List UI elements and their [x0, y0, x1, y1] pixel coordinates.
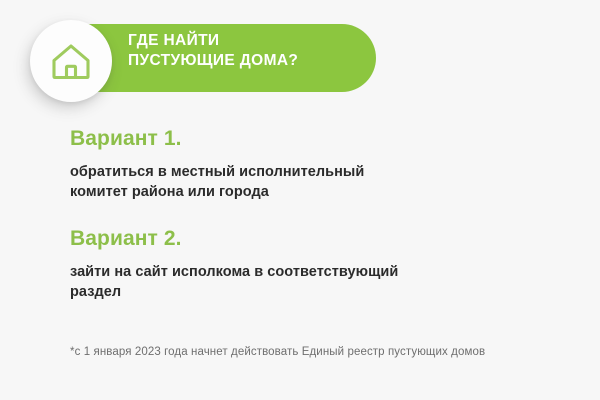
option-2-body: зайти на сайт исполкома в соответствующи… — [70, 262, 470, 302]
house-icon — [49, 41, 93, 81]
header-banner: ГДЕ НАЙТИ ПУСТУЮЩИЕ ДОМА? — [0, 0, 600, 118]
option-block-2: Вариант 2. зайти на сайт исполкома в соо… — [70, 226, 540, 302]
option-2-body-line-1: зайти на сайт исполкома в соответствующи… — [70, 262, 470, 282]
option-2-body-line-2: раздел — [70, 282, 470, 302]
banner-title-line-1: ГДЕ НАЙТИ — [128, 31, 368, 51]
option-1-body-line-1: обратиться в местный исполнительный — [70, 162, 470, 182]
banner-title: ГДЕ НАЙТИ ПУСТУЮЩИЕ ДОМА? — [128, 31, 368, 70]
options-list: Вариант 1. обратиться в местный исполнит… — [70, 126, 540, 320]
option-1-heading: Вариант 1. — [70, 126, 540, 152]
banner-title-line-2: ПУСТУЮЩИЕ ДОМА? — [128, 51, 368, 71]
footnote-text: *с 1 января 2023 года начнет действовать… — [70, 344, 485, 360]
option-block-1: Вариант 1. обратиться в местный исполнит… — [70, 126, 540, 202]
option-1-body-line-2: комитет района или города — [70, 182, 470, 202]
option-1-body: обратиться в местный исполнительный коми… — [70, 162, 470, 202]
option-2-heading: Вариант 2. — [70, 226, 540, 252]
icon-circle-badge — [30, 20, 112, 102]
